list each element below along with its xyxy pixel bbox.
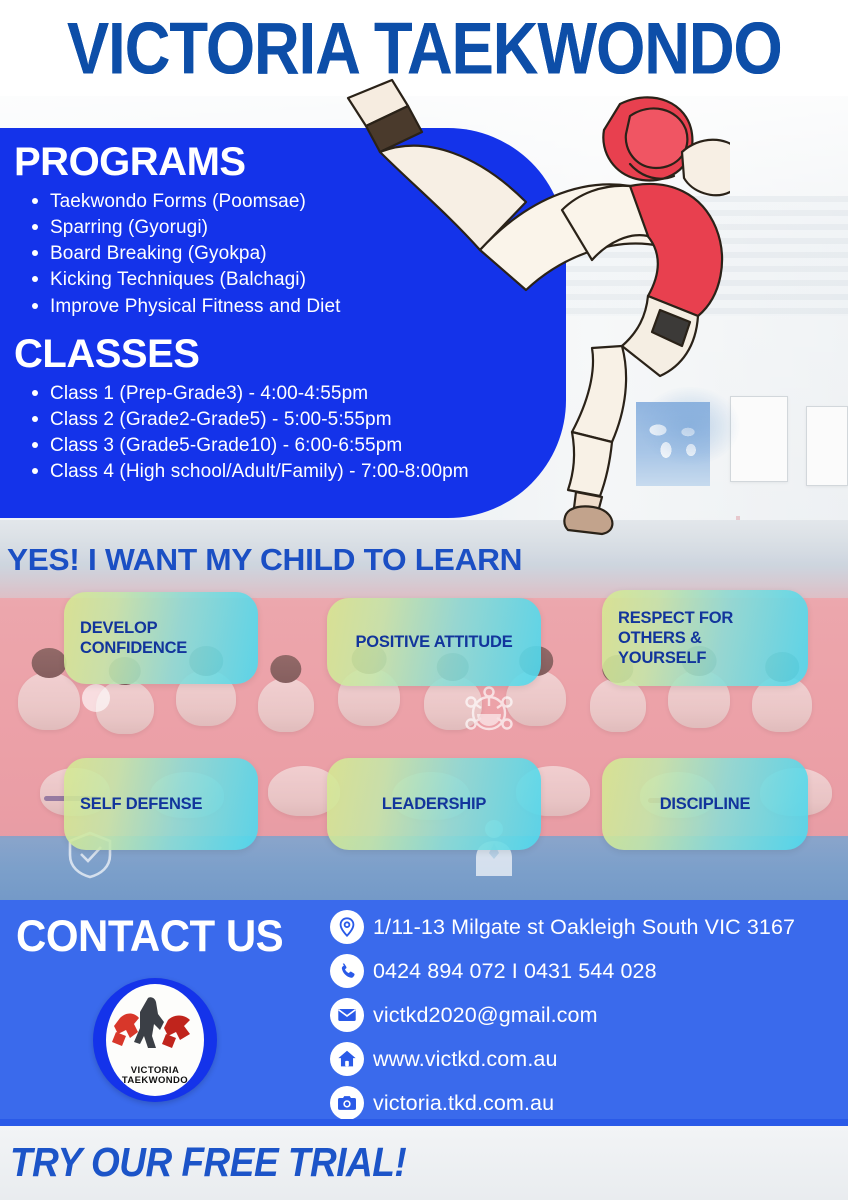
contact-row-address[interactable]: 1/11-13 Milgate st Oakleigh South VIC 31… — [330, 906, 795, 948]
page-title: VICTORIA TAEKWONDO — [67, 13, 782, 86]
list-item: Board Breaking (Gyokpa) — [24, 241, 566, 267]
benefit-card-label: LEADERSHIP — [343, 794, 525, 814]
benefit-card-develop-confidence[interactable]: DEVELOP CONFIDENCE — [64, 592, 258, 684]
contact-website-text: www.victkd.com.au — [373, 1047, 558, 1072]
benefit-card-self-defense[interactable]: SELF DEFENSE — [64, 758, 258, 850]
contact-heading: CONTACT US — [16, 911, 283, 962]
phone-icon — [330, 954, 364, 988]
benefit-card-respect[interactable]: RESPECT FOR OTHERS & YOURSELF — [602, 590, 808, 686]
programs-list: Taekwondo Forms (Poomsae) Sparring (Gyor… — [24, 189, 566, 320]
envelope-icon — [330, 998, 364, 1032]
home-icon — [330, 1042, 364, 1076]
poster-title-bar: VICTORIA TAEKWONDO — [0, 0, 848, 100]
benefit-card-discipline[interactable]: DISCIPLINE — [602, 758, 808, 850]
list-item: Class 4 (High school/Adult/Family) - 7:0… — [24, 459, 566, 485]
contact-row-email[interactable]: victkd2020@gmail.com — [330, 994, 795, 1036]
list-item: Class 3 (Grade5-Grade10) - 6:00-6:55pm — [24, 433, 566, 459]
classes-list: Class 1 (Prep-Grade3) - 4:00-4:55pm Clas… — [24, 381, 566, 486]
footer-section: TRY OUR FREE TRIAL! — [0, 1125, 848, 1200]
logo-line-2: TAEKWONDO — [122, 1076, 188, 1087]
benefit-card-leadership[interactable]: LEADERSHIP — [327, 758, 541, 850]
contact-phone-text: 0424 894 072 I 0431 544 028 — [373, 959, 657, 984]
benefit-card-label: DEVELOP CONFIDENCE — [80, 618, 242, 658]
free-trial-text: TRY OUR FREE TRIAL! — [10, 1139, 406, 1185]
contact-row-instagram[interactable]: victoria.tkd.com.au — [330, 1082, 795, 1124]
benefit-card-label: SELF DEFENSE — [80, 794, 202, 814]
list-item: Class 2 (Grade2-Grade5) - 5:00-5:55pm — [24, 407, 566, 433]
wall-frame — [806, 406, 848, 486]
contact-details-list: 1/11-13 Milgate st Oakleigh South VIC 31… — [330, 906, 795, 1126]
poster-root: VICTORIA TAEKWONDO PROGRAMS Taekwondo Fo… — [0, 0, 848, 1200]
victoria-taekwondo-logo: VICTORIA TAEKWONDO — [93, 978, 217, 1102]
list-item: Taekwondo Forms (Poomsae) — [24, 189, 566, 215]
benefits-heading: YES! I WANT MY CHILD TO LEARN — [7, 542, 522, 578]
list-item: Kicking Techniques (Balchagi) — [24, 267, 566, 293]
contact-row-phone[interactable]: 0424 894 072 I 0431 544 028 — [330, 950, 795, 992]
programs-classes-panel: PROGRAMS Taekwondo Forms (Poomsae) Sparr… — [0, 128, 566, 518]
classes-heading: CLASSES — [14, 334, 566, 375]
benefit-card-positive-attitude[interactable]: POSITIVE ATTITUDE — [327, 598, 541, 686]
list-item: Sparring (Gyorugi) — [24, 215, 566, 241]
benefit-card-label: POSITIVE ATTITUDE — [343, 632, 525, 652]
wall-frame — [730, 396, 788, 482]
contact-email-text: victkd2020@gmail.com — [373, 1003, 598, 1028]
list-item: Improve Physical Fitness and Diet — [24, 294, 566, 320]
location-pin-icon — [330, 910, 364, 944]
contact-row-website[interactable]: www.victkd.com.au — [330, 1038, 795, 1080]
camera-icon — [330, 1086, 364, 1120]
benefit-card-label: DISCIPLINE — [618, 794, 792, 814]
footer-accent-strip — [0, 1119, 848, 1126]
contact-address-text: 1/11-13 Milgate st Oakleigh South VIC 31… — [373, 915, 795, 940]
benefits-section: YES! I WANT MY CHILD TO LEARN DEVELOP CO… — [0, 520, 848, 900]
benefit-card-label: RESPECT FOR OTHERS & YOURSELF — [618, 608, 792, 668]
programs-heading: PROGRAMS — [14, 142, 566, 183]
logo-figures-icon — [106, 992, 204, 1054]
list-item: Class 1 (Prep-Grade3) - 4:00-4:55pm — [24, 381, 566, 407]
contact-instagram-text: victoria.tkd.com.au — [373, 1091, 554, 1116]
world-map-poster — [636, 402, 710, 486]
